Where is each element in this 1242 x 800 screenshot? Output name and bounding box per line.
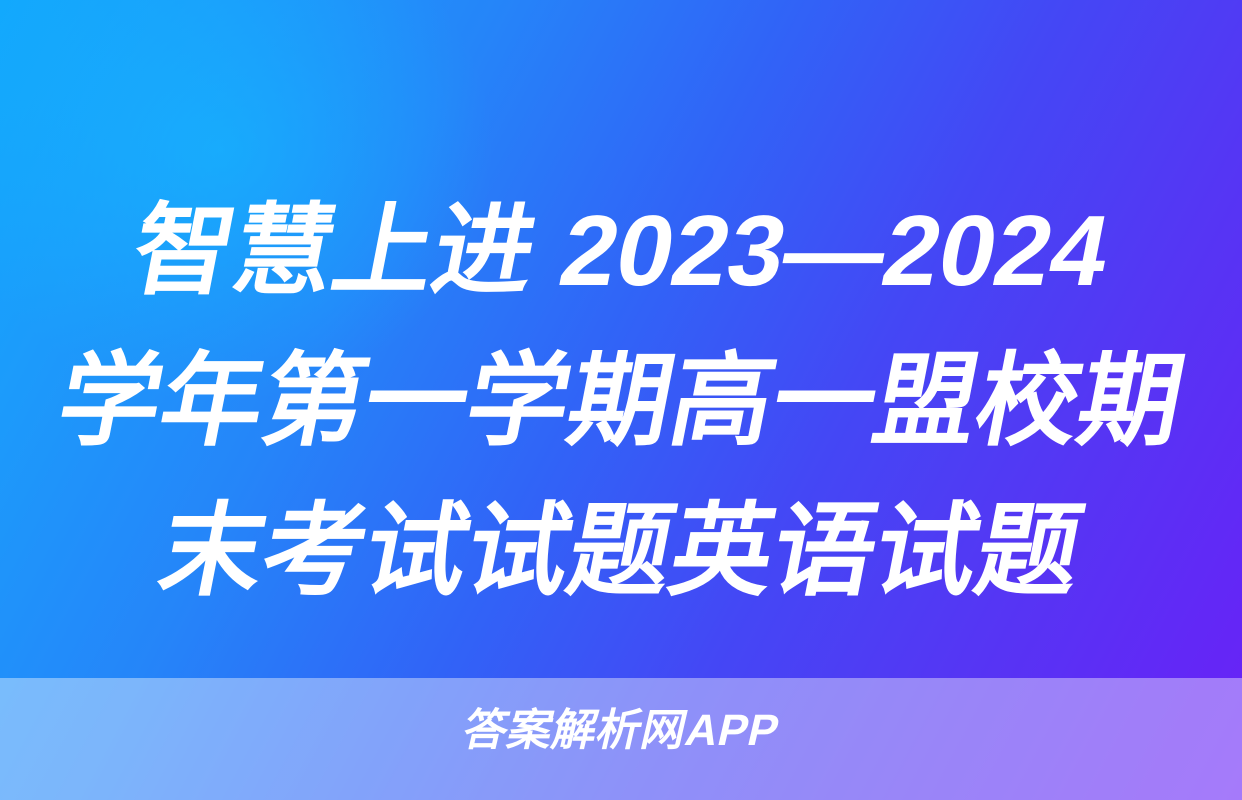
title-line-3: 末考试试题英语试题 xyxy=(0,476,1242,626)
page-title: 智慧上进 2023—2024 学年第一学期高一盟校期 末考试试题英语试题 xyxy=(0,176,1242,626)
app-watermark: 答案解析网APP xyxy=(0,703,1242,759)
title-line-2: 学年第一学期高一盟校期 xyxy=(0,326,1242,476)
app-watermark-label: 答案解析网APP xyxy=(457,703,784,759)
exam-paper-cover-poster: 智慧上进 2023—2024 学年第一学期高一盟校期 末考试试题英语试题 答案解… xyxy=(0,0,1242,800)
title-line-1: 智慧上进 2023—2024 xyxy=(0,176,1242,326)
